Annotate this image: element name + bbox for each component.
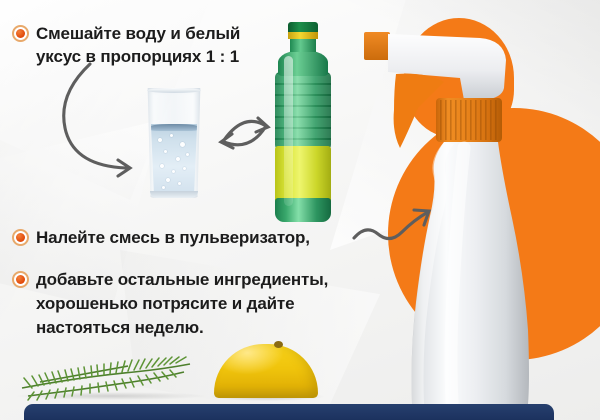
orange-dot-icon: [12, 271, 29, 288]
step-3-text: добавьте остальные ингредиенты, хорошень…: [36, 268, 328, 340]
spray-bottle: [352, 12, 600, 412]
footer-bar: [24, 404, 554, 420]
step-item-3[interactable]: добавьте остальные ингредиенты, хорошень…: [12, 268, 342, 340]
steps-list: Смешайте воду и белый уксус в пропорциях…: [0, 0, 372, 420]
step-item-1[interactable]: Смешайте воду и белый уксус в пропорциях…: [12, 22, 312, 68]
step-2-text: Налейте смесь в пульверизатор,: [36, 226, 310, 249]
orange-dot-icon: [12, 25, 29, 42]
infographic-canvas: Смешайте воду и белый уксус в пропорциях…: [0, 0, 600, 420]
orange-dot-icon: [12, 229, 29, 246]
step-1-text: Смешайте воду и белый уксус в пропорциях…: [36, 22, 240, 68]
step-item-2[interactable]: Налейте смесь в пульверизатор,: [12, 226, 352, 249]
